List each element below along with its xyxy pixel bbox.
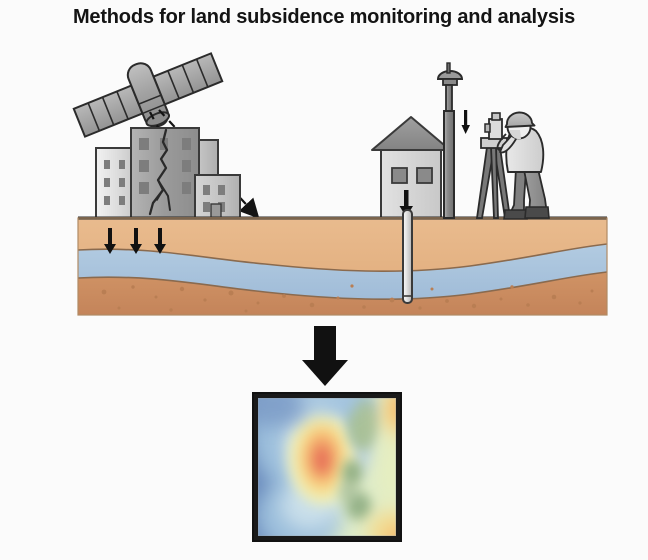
- result-subsidence-map: [220, 372, 420, 558]
- extensometer-borehole: [403, 210, 412, 303]
- ground-cross-section: [78, 218, 607, 315]
- surveyor-with-tripod: [477, 112, 549, 219]
- surveyor-hard-hat-icon: [506, 112, 535, 127]
- figure-root: Methods for land subsidence monitoring a…: [0, 0, 648, 560]
- process-flow-arrow: [302, 326, 348, 386]
- gps-subsidence-arrow: [462, 110, 471, 134]
- tripod-legs: [477, 147, 510, 218]
- building-right: [155, 170, 240, 218]
- gps-antenna-station: [438, 63, 470, 218]
- house-group: [372, 117, 450, 218]
- gps-monument-pole: [444, 111, 454, 218]
- scene-illustration: [0, 0, 648, 560]
- map-surface: [220, 372, 420, 558]
- satellite-solar-panel-right: [154, 53, 223, 104]
- house-roof: [372, 117, 450, 150]
- buildings-group: [96, 128, 240, 218]
- house-window-right: [417, 168, 432, 183]
- house-window-left: [392, 168, 407, 183]
- levelling-instrument: [485, 113, 502, 139]
